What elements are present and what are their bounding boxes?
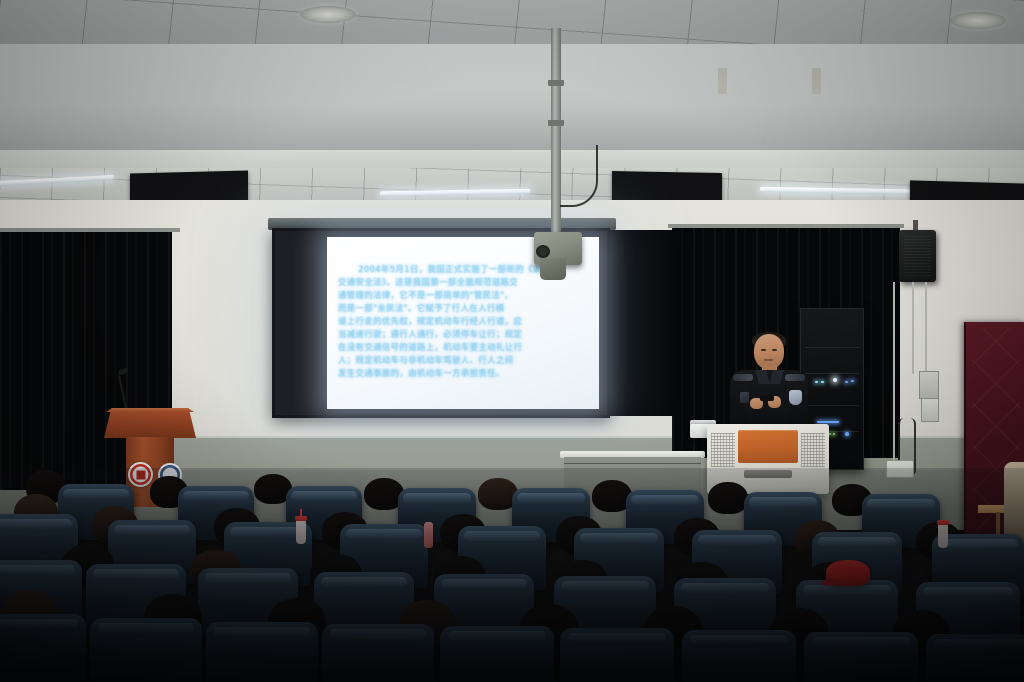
- presenter-badge-patch: [789, 390, 802, 405]
- slide-line: 人；规定机动车与非机动车驾驶人、行人之间: [338, 354, 590, 367]
- lectern-speaker-grille: [801, 433, 825, 467]
- audience-seating-area: [0, 468, 1024, 682]
- podium-top: [104, 408, 196, 438]
- wall-switch-plate: [921, 398, 939, 422]
- rack-status-led: [815, 381, 818, 383]
- presenter-head: [754, 334, 784, 369]
- presenter-mouth: [764, 359, 773, 361]
- rack-status-led: [845, 381, 848, 383]
- rack-status-led: [817, 421, 839, 423]
- hanging-acoustic-panel: [130, 171, 248, 204]
- lectern-leg: [718, 68, 727, 94]
- wall-electrical-box: [919, 371, 939, 399]
- presenter-epaulette: [785, 374, 805, 381]
- table-edge-line: [564, 463, 701, 464]
- curtain-rail-left: [0, 228, 180, 232]
- wall-cable: [893, 282, 895, 478]
- presenter-eye: [761, 349, 766, 351]
- slide-line: 通管理的法律，它不是一部简单的"管民法"，: [338, 289, 590, 302]
- slide-text-block: 2004年5月1日，我国正式实施了一部新的《道路交通安全法》。这是我国第一部全面…: [338, 263, 590, 380]
- rack-status-led: [845, 432, 849, 436]
- wall-mounted-speaker: [899, 230, 936, 282]
- projector-lens: [536, 245, 550, 258]
- presenter-eye: [772, 349, 777, 351]
- pole-clamp: [548, 80, 564, 86]
- slide-line: 在没有交通信号的道路上，机动车要主动礼让行: [338, 341, 590, 354]
- downlight-fixture: [950, 12, 1006, 29]
- slide-line: 当减速行驶；遇行人通行，必须停车让行；规定: [338, 328, 590, 341]
- rack-status-led: [851, 380, 854, 382]
- lectern-front-panel: [738, 430, 798, 463]
- downlight-fixture: [300, 6, 356, 23]
- lectern-leg: [812, 68, 821, 94]
- projector-mount-pole: [551, 28, 561, 240]
- projector-lens-housing: [540, 258, 566, 280]
- audience-shadow-overlay: [0, 468, 1024, 682]
- lectern-speaker-grille: [711, 433, 735, 467]
- rack-status-led: [833, 378, 837, 382]
- presenter-epaulette: [733, 374, 753, 381]
- rack-status-led: [821, 381, 824, 383]
- wall-cable: [912, 282, 914, 374]
- rack-status-led: [829, 433, 831, 435]
- rack-status-led: [833, 433, 835, 435]
- wall-cable: [925, 282, 927, 372]
- slide-line: 发生交通事故的，由机动车一方承担责任。: [338, 367, 590, 380]
- slide-line: 而是一部"亲民法"。它赋予了行人在人行横: [338, 302, 590, 315]
- auditorium-lecture-photo: 2004年5月1日，我国正式实施了一部新的《道路交通安全法》。这是我国第一部全面…: [0, 0, 1024, 682]
- presenter-shoulder-patch: [740, 392, 749, 403]
- blackout-curtain-center-edge: [610, 230, 674, 416]
- pole-clamp: [548, 120, 564, 126]
- podium-top-edge: [106, 408, 194, 412]
- slide-line: 道上行走的优先权，规定机动车行经人行道，应: [338, 315, 590, 328]
- presenter-remote: [760, 395, 774, 401]
- curtain-rail-right: [668, 224, 904, 228]
